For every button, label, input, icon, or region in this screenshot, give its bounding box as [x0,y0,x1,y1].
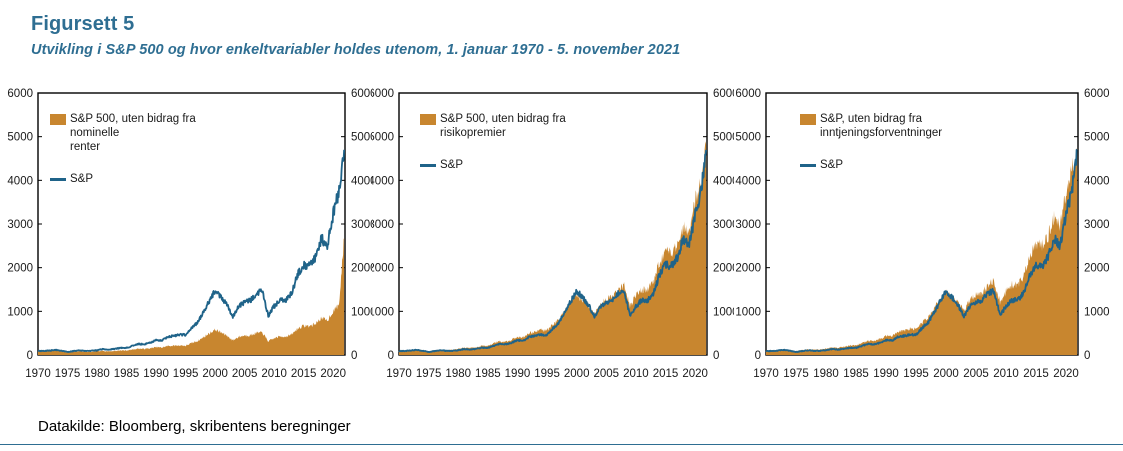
svg-text:2000: 2000 [372,263,394,275]
svg-text:4000: 4000 [372,175,394,187]
svg-text:2000: 2000 [933,368,959,380]
svg-text:2000: 2000 [7,263,33,275]
svg-text:3000: 3000 [351,219,372,231]
chart-panel-1: 0010001000200020003000300040004000500050… [0,88,372,386]
svg-text:5000: 5000 [735,132,761,144]
svg-text:3000: 3000 [713,219,734,231]
page-title: Figursett 5 [31,12,1091,36]
svg-text:5000: 5000 [351,132,372,144]
svg-text:1990: 1990 [873,368,899,380]
svg-text:0: 0 [351,350,357,362]
svg-text:5000: 5000 [372,132,394,144]
svg-text:1995: 1995 [903,368,929,380]
page-subtitle: Utvikling i S&P 500 og hvor enkeltvariab… [31,40,1091,60]
svg-text:5000: 5000 [713,132,734,144]
svg-text:1975: 1975 [55,368,81,380]
svg-text:1000: 1000 [735,306,761,318]
svg-text:1985: 1985 [114,368,140,380]
chart-plot-3: 0010001000200020003000300040004000500050… [734,88,1123,386]
figure-header: Figursett 5 Utvikling i S&P 500 og hvor … [31,12,1091,60]
svg-text:3000: 3000 [372,219,394,231]
svg-text:1985: 1985 [843,368,869,380]
svg-text:1000: 1000 [351,306,372,318]
svg-text:1000: 1000 [372,306,394,318]
svg-text:1970: 1970 [25,368,51,380]
svg-text:4000: 4000 [351,175,372,187]
svg-text:1975: 1975 [416,368,442,380]
svg-text:4000: 4000 [7,175,33,187]
svg-text:2000: 2000 [735,263,761,275]
chart-plot-2: 0010001000200020003000300040004000500050… [372,88,734,386]
figure-page: Figursett 5 Utvikling i S&P 500 og hvor … [0,0,1123,451]
svg-text:6000: 6000 [7,88,33,100]
svg-text:0: 0 [27,350,33,362]
svg-text:2015: 2015 [291,368,317,380]
svg-text:1000: 1000 [7,306,33,318]
svg-text:2010: 2010 [623,368,649,380]
svg-text:2000: 2000 [202,368,228,380]
svg-text:1000: 1000 [713,306,734,318]
svg-text:6000: 6000 [713,88,734,100]
svg-text:1000: 1000 [1084,306,1110,318]
svg-text:2000: 2000 [713,263,734,275]
svg-text:1980: 1980 [813,368,839,380]
svg-text:1985: 1985 [475,368,501,380]
svg-text:1980: 1980 [84,368,110,380]
svg-text:4000: 4000 [735,175,761,187]
svg-text:1970: 1970 [386,368,412,380]
svg-text:1970: 1970 [753,368,779,380]
svg-text:2000: 2000 [1084,263,1110,275]
svg-text:2020: 2020 [682,368,708,380]
svg-text:3000: 3000 [7,219,33,231]
chart-plot-1: 0010001000200020003000300040004000500050… [0,88,372,386]
svg-text:2015: 2015 [1023,368,1049,380]
svg-text:2015: 2015 [653,368,679,380]
svg-text:2000: 2000 [351,263,372,275]
svg-text:2020: 2020 [320,368,346,380]
svg-text:2010: 2010 [261,368,287,380]
svg-text:6000: 6000 [351,88,372,100]
svg-text:1990: 1990 [143,368,169,380]
svg-text:2005: 2005 [594,368,620,380]
svg-text:1975: 1975 [783,368,809,380]
svg-text:1980: 1980 [445,368,471,380]
svg-text:5000: 5000 [1084,132,1110,144]
svg-text:6000: 6000 [735,88,761,100]
chart-panel-3: 0010001000200020003000300040004000500050… [734,88,1123,386]
svg-text:1995: 1995 [173,368,199,380]
svg-text:2005: 2005 [232,368,258,380]
svg-text:1990: 1990 [505,368,531,380]
svg-text:2005: 2005 [963,368,989,380]
svg-text:0: 0 [755,350,761,362]
svg-text:2020: 2020 [1053,368,1079,380]
svg-text:0: 0 [388,350,394,362]
svg-text:3000: 3000 [735,219,761,231]
svg-text:1995: 1995 [534,368,560,380]
svg-text:6000: 6000 [372,88,394,100]
svg-text:3000: 3000 [1084,219,1110,231]
svg-text:0: 0 [713,350,719,362]
chart-panel-2: 0010001000200020003000300040004000500050… [372,88,734,386]
svg-text:2010: 2010 [993,368,1019,380]
svg-text:4000: 4000 [713,175,734,187]
footer-divider [0,444,1123,445]
svg-text:2000: 2000 [564,368,590,380]
svg-text:6000: 6000 [1084,88,1110,100]
source-note: Datakilde: Bloomberg, skribentens beregn… [38,418,351,435]
svg-text:5000: 5000 [7,132,33,144]
svg-text:4000: 4000 [1084,175,1110,187]
svg-text:0: 0 [1084,350,1090,362]
